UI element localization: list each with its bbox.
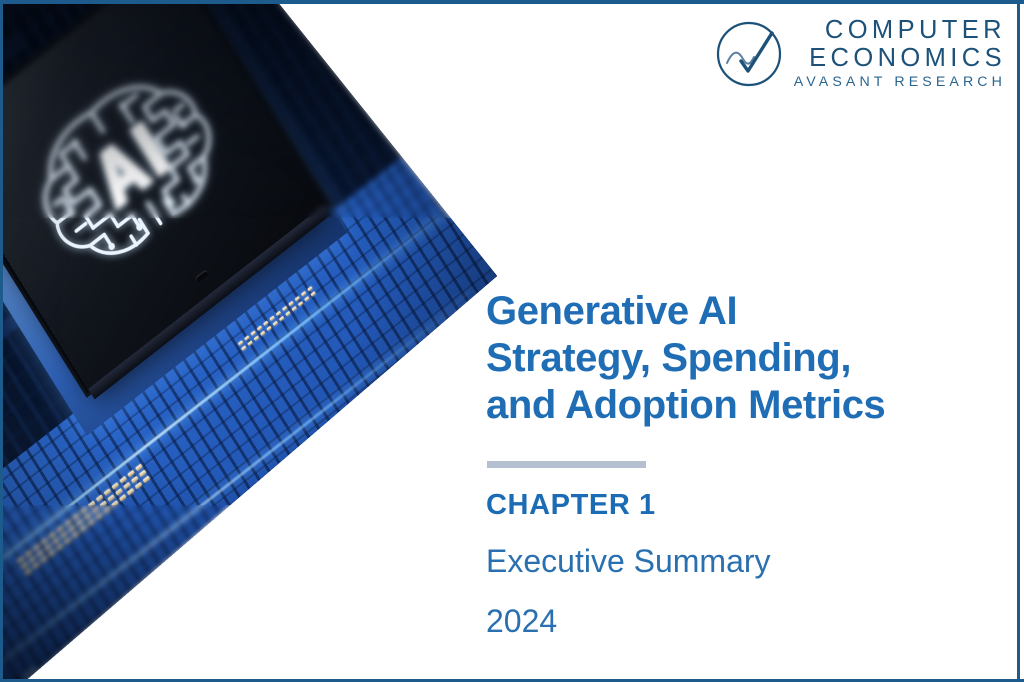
cover-text-block: Generative AI Strategy, Spending, and Ad… bbox=[486, 0, 1006, 682]
logo-line-avasant-research: AVASANT RESEARCH bbox=[794, 75, 1006, 89]
brand-logo-text: COMPUTER ECONOMICS AVASANT RESEARCH bbox=[794, 18, 1006, 89]
page-title-line-1: Generative AI bbox=[486, 288, 956, 335]
page-title-line-3: and Adoption Metrics bbox=[486, 382, 956, 429]
report-cover-page: COMPUTER ECONOMICS AVASANT RESEARCH Gene… bbox=[0, 0, 1024, 682]
circle-wave-checkmark-icon bbox=[714, 19, 784, 89]
logo-line-economics: ECONOMICS bbox=[809, 46, 1006, 72]
page-border-left bbox=[0, 0, 3, 682]
page-title: Generative AI Strategy, Spending, and Ad… bbox=[486, 288, 956, 428]
circuit-board-perspective-plane bbox=[0, 0, 500, 682]
title-divider-rule bbox=[487, 461, 646, 468]
page-border-top bbox=[0, 0, 1024, 4]
logo-line-computer: COMPUTER bbox=[825, 18, 1006, 44]
chapter-label: CHAPTER 1 bbox=[486, 489, 656, 522]
chapter-subtitle: Executive Summary bbox=[486, 543, 771, 580]
hero-image-inner bbox=[0, 0, 500, 682]
publication-year: 2024 bbox=[486, 603, 557, 640]
hero-image-ai-chip bbox=[0, 0, 500, 682]
page-title-line-2: Strategy, Spending, bbox=[486, 335, 956, 382]
page-border-right bbox=[1017, 0, 1020, 682]
brand-logo: COMPUTER ECONOMICS AVASANT RESEARCH bbox=[714, 18, 1006, 89]
